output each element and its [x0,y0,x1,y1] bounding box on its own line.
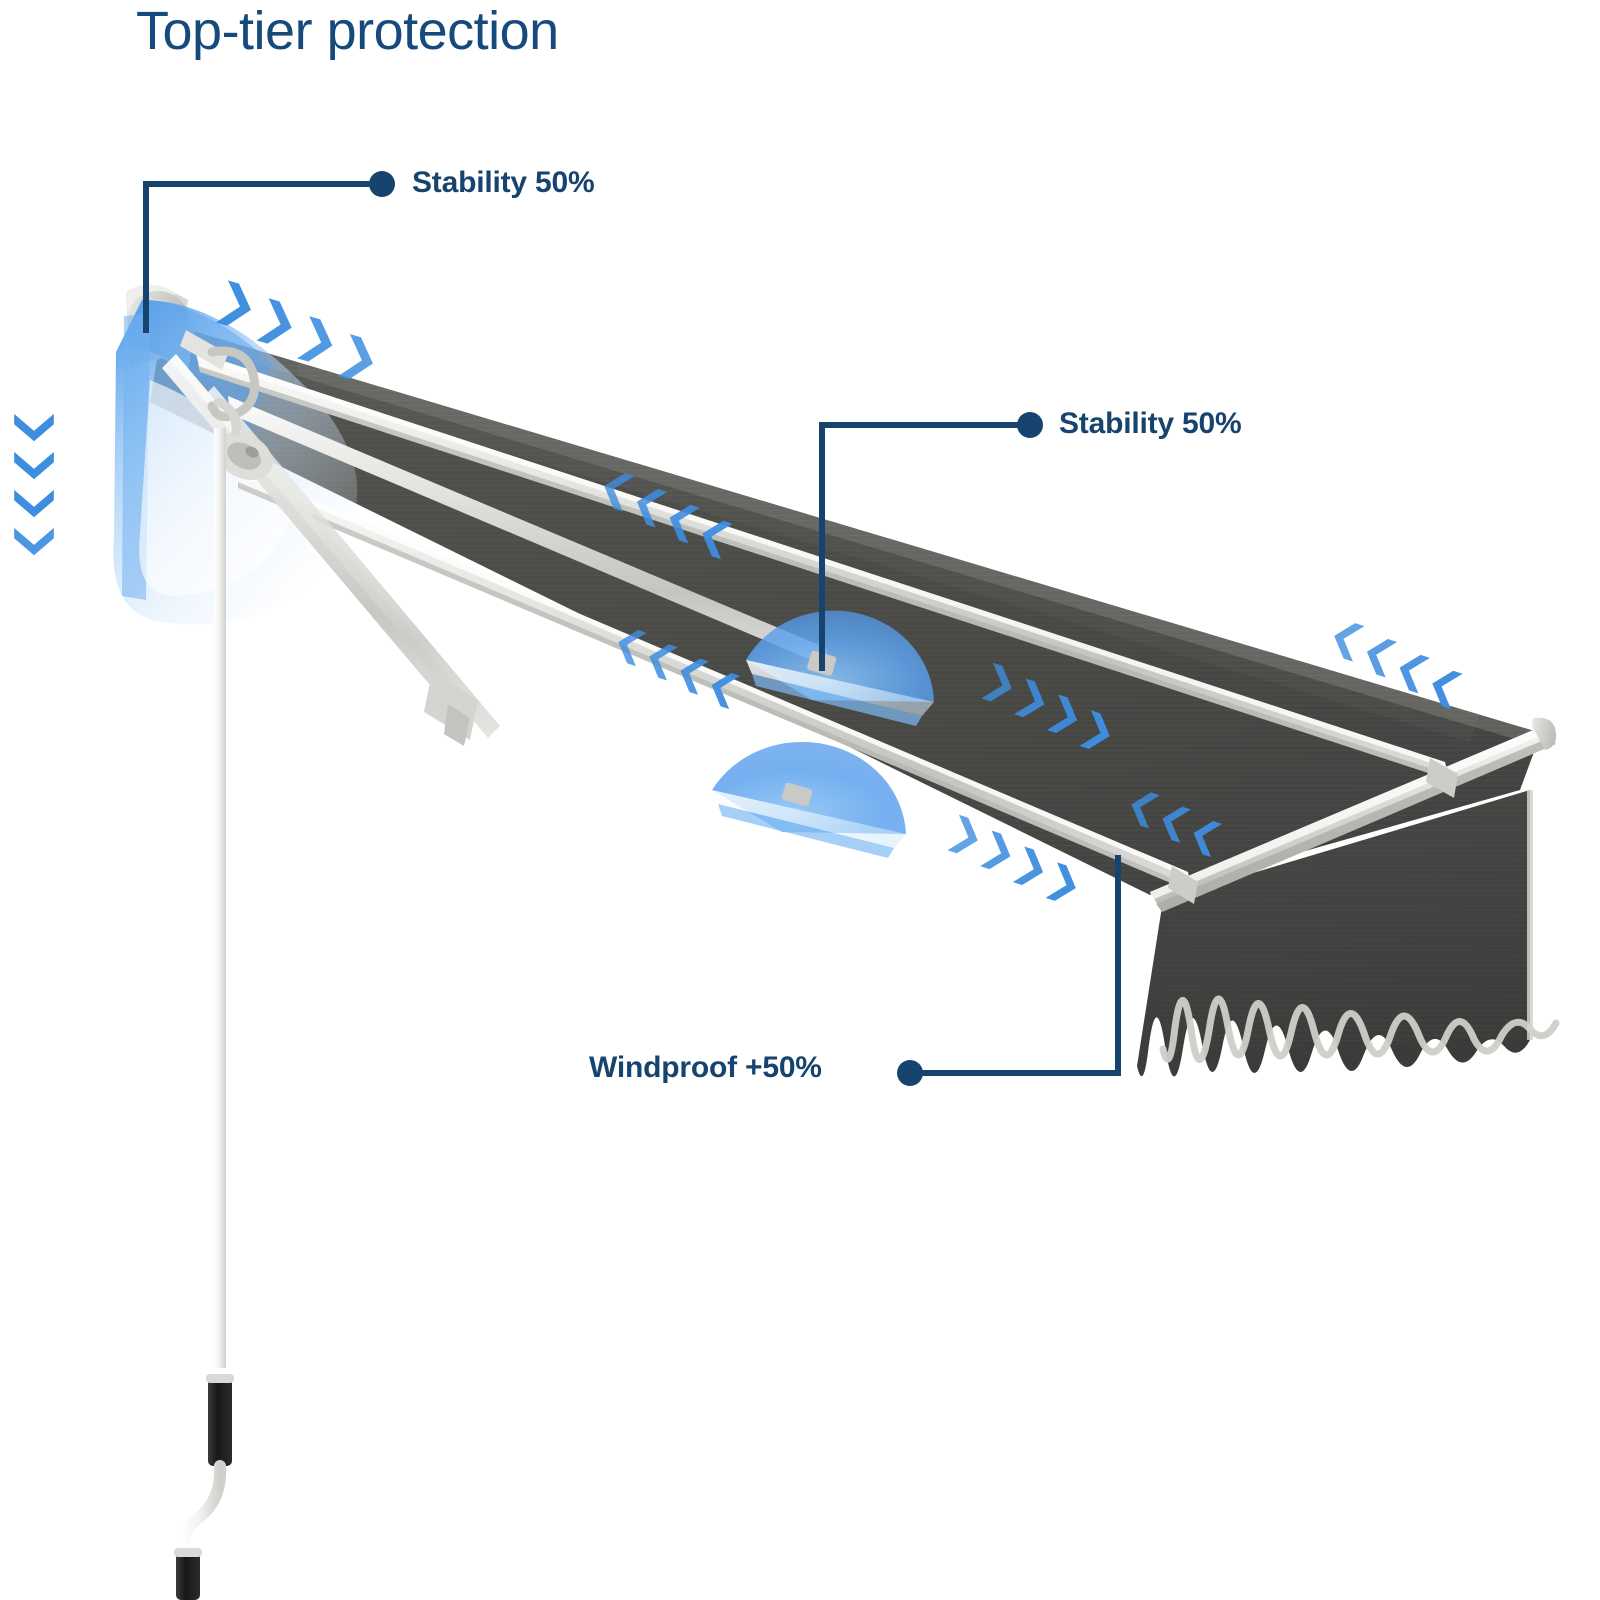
callout-label-windproof: Windproof +50% [589,1053,822,1083]
infographic-canvas: Top-tier protection Stability 50% Stabil… [0,0,1600,1600]
callout-label-stability-top: Stability 50% [412,168,594,198]
callout-dot-stability-top [369,171,395,197]
leader-windproof [910,858,1118,1073]
page-title: Top-tier protection [136,2,559,61]
callout-dot-windproof [897,1060,923,1086]
callout-dot-stability-mid [1017,412,1043,438]
left-side-arrows [14,414,54,555]
callout-label-stability-mid: Stability 50% [1059,409,1241,439]
awning-illustration [0,0,1600,1600]
